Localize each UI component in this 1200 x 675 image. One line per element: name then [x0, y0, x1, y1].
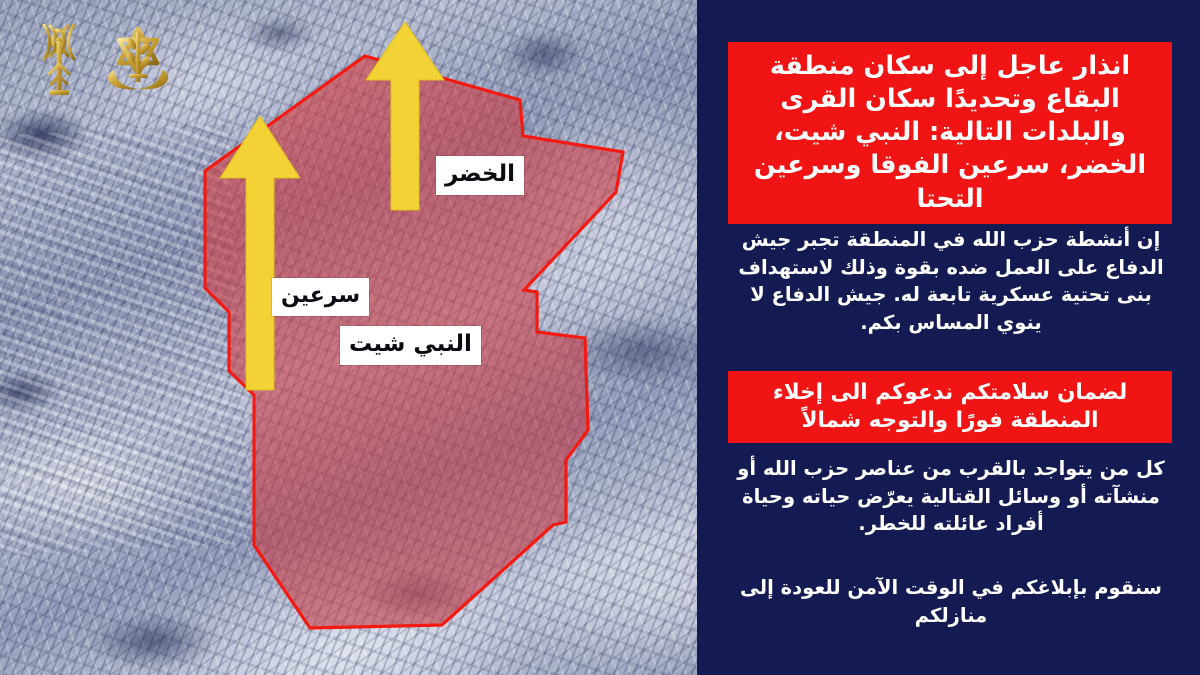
map-label-al-khodr-text: الخضر: [445, 161, 515, 187]
map-label-saraain: سرعين: [272, 278, 369, 316]
body-paragraph-proximity-danger: كل من يتواجد بالقرب من عناصر حزب الله أو…: [735, 455, 1167, 538]
evacuation-callout-banner: لضمان سلامتكم ندعوكم الى إخلاء المنطقة ف…: [728, 371, 1172, 443]
broadcast-tower-icon: [36, 24, 88, 96]
evacuation-warning-graphic: الخضر سرعين النبي شيت: [0, 0, 1200, 675]
headline-alert-banner: انذار عاجل إلى سكان منطقة البقاع وتحديدً…: [728, 42, 1172, 224]
satellite-map-panel: الخضر سرعين النبي شيت: [0, 0, 697, 675]
map-label-nabi-chit: النبي شيت: [340, 326, 481, 365]
body-paragraph-hezbollah-activity: إن أنشطة حزب الله في المنطقة تجبر جيش ال…: [735, 226, 1167, 337]
map-label-al-khodr: الخضر: [436, 156, 524, 195]
map-label-nabi-chit-text: النبي شيت: [349, 331, 472, 357]
warning-text-panel: انذار عاجل إلى سكان منطقة البقاع وتحديدً…: [697, 0, 1200, 675]
body-paragraph-safe-return: سنقوم بإبلاغكم في الوقت الآمن للعودة إلى…: [735, 574, 1167, 629]
idf-emblem-icon: [104, 24, 172, 96]
map-label-saraain-text: سرعين: [281, 283, 360, 308]
evacuation-arrow-west: [216, 112, 304, 394]
